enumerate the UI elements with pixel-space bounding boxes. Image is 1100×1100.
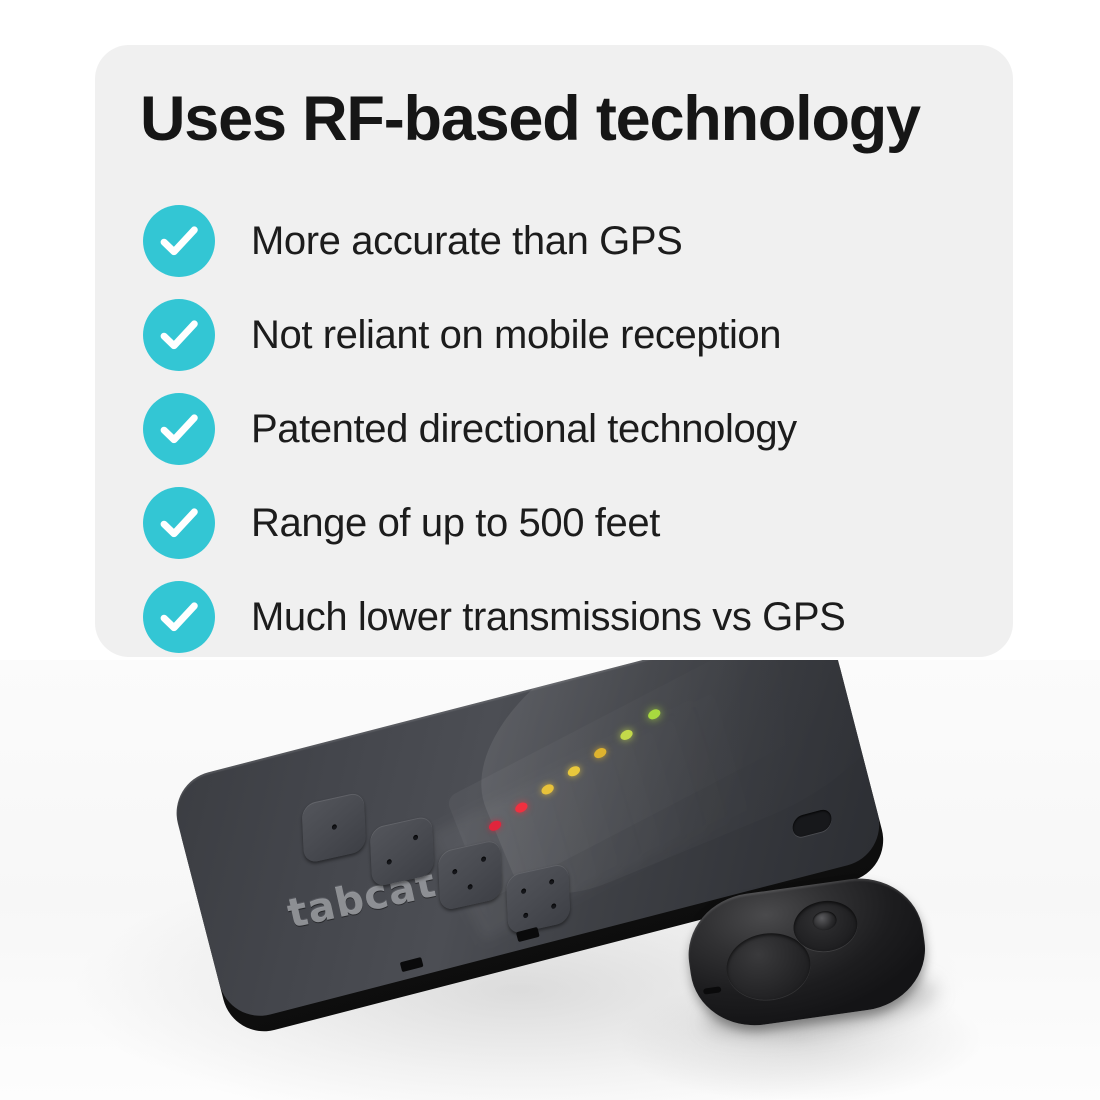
button-dot	[521, 888, 526, 894]
button-dot	[413, 834, 418, 840]
button-dot	[549, 879, 554, 885]
button-dot	[481, 856, 486, 862]
feature-label: Range of up to 500 feet	[251, 503, 660, 543]
cat-button-4[interactable]	[506, 862, 571, 935]
product-feature-page: Uses RF-based technology More accurate t…	[0, 0, 1100, 1100]
list-item: Range of up to 500 feet	[143, 476, 993, 570]
check-circle-icon	[143, 487, 215, 559]
button-dot	[468, 884, 473, 890]
edge-notch	[400, 957, 424, 972]
page-title: Uses RF-based technology	[140, 83, 920, 155]
button-dot	[332, 824, 337, 830]
check-circle-icon	[143, 299, 215, 371]
list-item: Much lower transmissions vs GPS	[143, 570, 993, 664]
tag-slot	[703, 986, 722, 994]
list-item: Patented directional technology	[143, 382, 993, 476]
check-circle-icon	[143, 393, 215, 465]
button-dot	[551, 903, 556, 909]
button-dot	[452, 869, 457, 875]
feature-card: Uses RF-based technology More accurate t…	[95, 45, 1013, 657]
product-photo: tabcat	[0, 660, 1100, 1100]
feature-label: Not reliant on mobile reception	[251, 315, 781, 355]
check-circle-icon	[143, 205, 215, 277]
cat-button-1[interactable]	[302, 791, 367, 864]
feature-label: Patented directional technology	[251, 409, 797, 449]
check-circle-icon	[143, 581, 215, 653]
feature-label: Much lower transmissions vs GPS	[251, 597, 845, 637]
list-item: More accurate than GPS	[143, 194, 993, 288]
button-dot	[387, 859, 392, 865]
button-dot	[523, 912, 528, 918]
feature-list: More accurate than GPS Not reliant on mo…	[143, 194, 993, 664]
list-item: Not reliant on mobile reception	[143, 288, 993, 382]
feature-label: More accurate than GPS	[251, 221, 682, 261]
